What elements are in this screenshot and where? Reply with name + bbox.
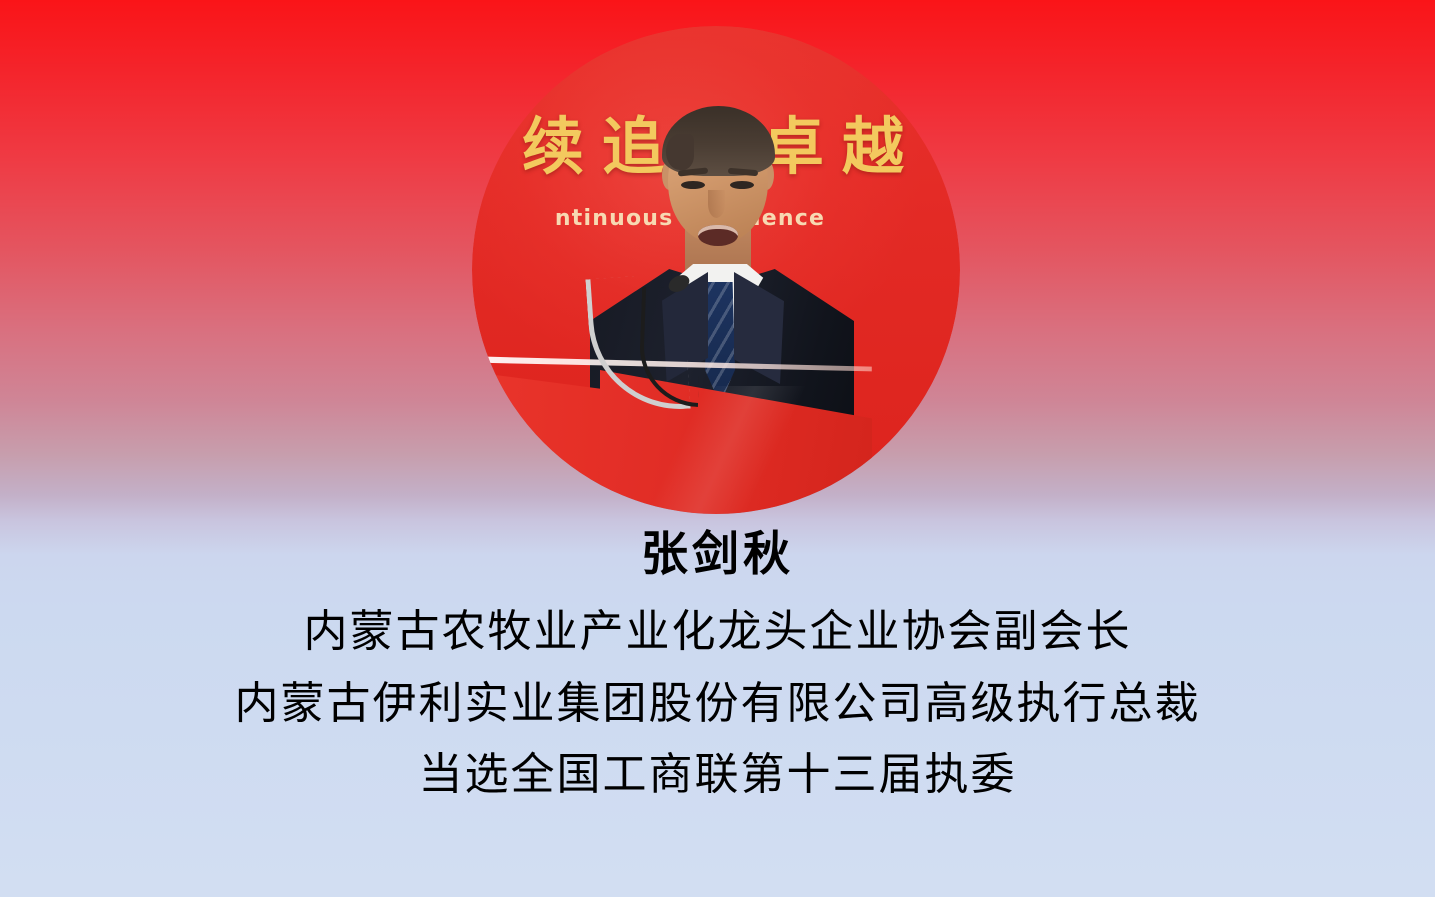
mouth xyxy=(698,225,738,246)
caption-block: 张剑秋 内蒙古农牧业产业化龙头企业协会副会长 内蒙古伊利实业集团股份有限公司高级… xyxy=(0,527,1435,810)
eye-left xyxy=(681,181,705,189)
podium-highlight xyxy=(622,386,822,514)
speaker-figure xyxy=(472,26,960,514)
slide-root: 续追求卓越 ntinuous Excellence xyxy=(0,0,1435,897)
nose xyxy=(708,190,725,218)
person-title-line-3: 当选全国工商联第十三届执委 xyxy=(0,739,1435,810)
person-title-line-1: 内蒙古农牧业产业化龙头企业协会副会长 xyxy=(0,596,1435,667)
person-name: 张剑秋 xyxy=(0,527,1435,582)
speaker-photo-circle: 续追求卓越 ntinuous Excellence xyxy=(472,26,960,514)
eye-right xyxy=(730,181,754,189)
hair xyxy=(662,106,775,176)
person-title-line-2: 内蒙古伊利实业集团股份有限公司高级执行总裁 xyxy=(0,668,1435,739)
